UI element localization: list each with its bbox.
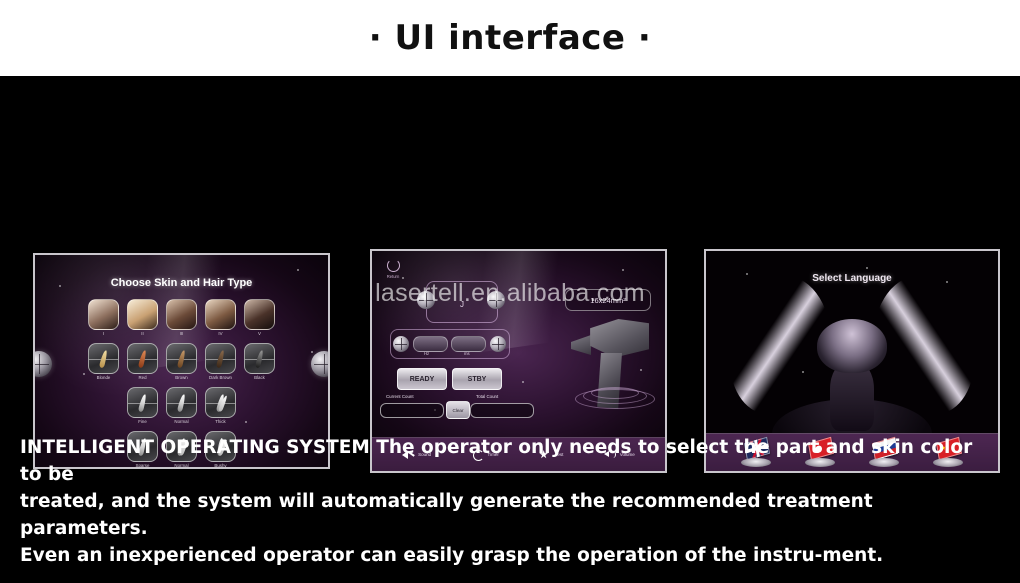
rate-decrease-knob[interactable] bbox=[393, 336, 409, 352]
return-arrow-icon bbox=[387, 259, 400, 272]
hair-strand-icon bbox=[127, 343, 158, 374]
decorative-knob-right-icon bbox=[311, 351, 330, 377]
caption-line-3: Even an inexperienced operator can easil… bbox=[20, 542, 1000, 569]
page-root: · UI interface · Choose Skin and Hair Ty… bbox=[0, 0, 1020, 583]
frequency-field[interactable] bbox=[413, 336, 448, 352]
panel3-heading: Select Language bbox=[706, 273, 998, 284]
standby-button[interactable]: STBY bbox=[452, 368, 502, 390]
return-button[interactable]: Return bbox=[380, 259, 406, 279]
title-band: · UI interface · bbox=[0, 0, 1020, 76]
option-label: Black bbox=[254, 376, 265, 380]
caption-line-1: INTELLIGENT OPERATING SYSTEM The operato… bbox=[20, 434, 1000, 488]
hair-strand-icon bbox=[205, 343, 236, 374]
option-label: Blonde bbox=[97, 376, 111, 380]
option-label: II bbox=[141, 332, 143, 336]
hair-color-option[interactable]: Red bbox=[126, 343, 159, 380]
hair-normal-icon bbox=[166, 387, 197, 418]
rate-increase-knob[interactable] bbox=[490, 336, 506, 352]
caption-line-2: treated, and the system will automatical… bbox=[20, 488, 1000, 542]
option-label: I bbox=[103, 332, 104, 336]
hair-color-option[interactable]: Dark Brown bbox=[204, 343, 237, 380]
option-label: Dark Brown bbox=[209, 376, 232, 380]
hair-strand-icon bbox=[244, 343, 275, 374]
hair-thick-icon bbox=[205, 387, 236, 418]
page-title: · UI interface · bbox=[369, 18, 652, 58]
pulse-width-label: ms bbox=[464, 351, 470, 356]
option-label: III bbox=[180, 332, 184, 336]
hair-strand-icon bbox=[166, 343, 197, 374]
head bbox=[817, 319, 887, 373]
language-screen-area: Select Language bbox=[706, 251, 998, 433]
option-label: Brown bbox=[175, 376, 187, 380]
caption-block: INTELLIGENT OPERATING SYSTEM The operato… bbox=[0, 416, 1020, 583]
hair-fine-icon bbox=[127, 387, 158, 418]
hair-color-row[interactable]: Blonde Red Brown Dark Brown Black bbox=[35, 343, 328, 380]
handpiece-tip bbox=[571, 335, 591, 355]
hair-strand-icon bbox=[88, 343, 119, 374]
hair-color-option[interactable]: Blonde bbox=[87, 343, 120, 380]
total-count-label: Total Count bbox=[476, 394, 498, 399]
ui-screens-row: Choose Skin and Hair Type I II III IV bbox=[0, 171, 1020, 401]
black-stage: Choose Skin and Hair Type I II III IV bbox=[0, 76, 1020, 583]
hair-color-option[interactable]: Black bbox=[243, 343, 276, 380]
option-label: IV bbox=[218, 332, 222, 336]
frequency-label: Hz bbox=[424, 351, 429, 356]
hair-color-option[interactable]: Brown bbox=[165, 343, 198, 380]
pulse-width-field[interactable] bbox=[451, 336, 486, 352]
handpiece-illustration bbox=[571, 319, 657, 411]
ripple-ring bbox=[591, 387, 639, 399]
current-count-label: Current Count bbox=[386, 394, 414, 399]
option-label: Red bbox=[138, 376, 146, 380]
option-label: V bbox=[258, 332, 261, 336]
ready-button[interactable]: READY bbox=[397, 368, 447, 390]
